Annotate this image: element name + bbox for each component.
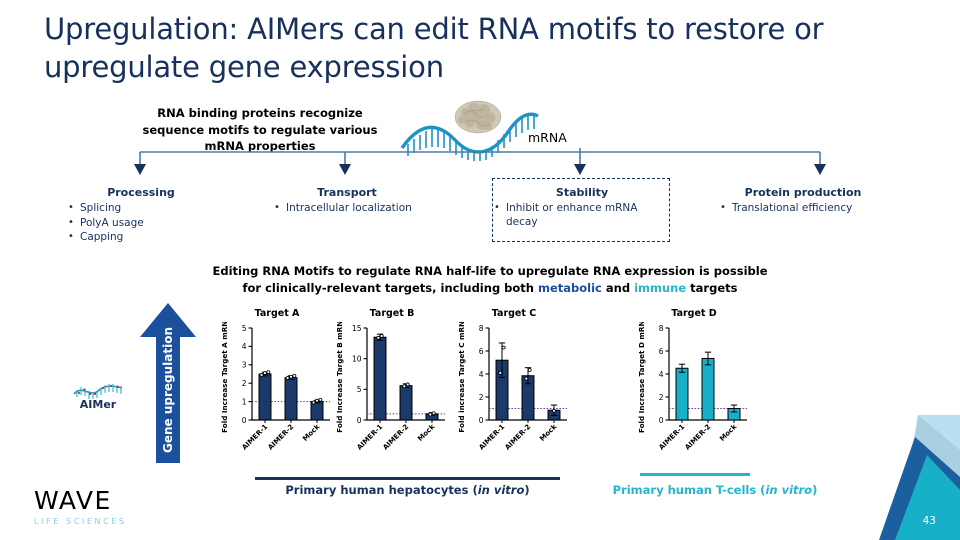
tcell-group-rule <box>640 473 750 476</box>
aimer-label: AIMer <box>72 398 124 411</box>
svg-text:2: 2 <box>242 379 247 388</box>
subtitle-metabolic: metabolic <box>538 281 602 295</box>
page-number: 43 <box>923 515 936 527</box>
svg-text:Mock: Mock <box>301 423 321 443</box>
chart-target-d: Target D 02468Fold Increase Target D mRN… <box>635 308 753 476</box>
branch-connector <box>130 148 830 184</box>
svg-text:AIMER-1: AIMER-1 <box>657 423 686 452</box>
logo-wordmark: WAVE <box>34 488 127 513</box>
caption-hepatocytes: Primary human hepatocytes (in vitro) <box>245 483 570 497</box>
svg-text:0: 0 <box>479 416 484 425</box>
category-title: Transport <box>272 186 422 199</box>
svg-text:10: 10 <box>352 354 362 363</box>
caption-text: Primary human T-cells ( <box>613 483 766 497</box>
chart-target-c: Target C 02468Fold increase Target C mRN… <box>455 308 573 476</box>
svg-text:0: 0 <box>659 416 664 425</box>
chart-target-a: Target A 012345Fold Increase Target A mR… <box>218 308 336 476</box>
wave-logo: WAVE LIFE SCIENCES <box>34 488 127 526</box>
caption-text-end: ) <box>812 483 817 497</box>
subtitle-immune: immune <box>634 281 686 295</box>
chart-title: Target A <box>218 308 336 319</box>
category-items: Intracellular localization <box>272 202 422 216</box>
caption-italic: in vitro <box>765 483 812 497</box>
section-subtitle: Editing RNA Motifs to regulate RNA half-… <box>170 263 810 298</box>
svg-text:AIMER-2: AIMER-2 <box>381 423 410 452</box>
mrna-label: mRNA <box>528 130 567 145</box>
subtitle-line2-post: targets <box>686 281 737 295</box>
chart-plot-area: 012345Fold Increase Target A mRNAAIMER-1… <box>218 322 336 476</box>
svg-text:5: 5 <box>242 324 247 333</box>
category-items: Inhibit or enhance mRNA decay <box>492 202 672 229</box>
svg-text:AIMER-2: AIMER-2 <box>683 423 712 452</box>
subtitle-line1: Editing RNA Motifs to regulate RNA half-… <box>212 264 767 278</box>
logo-tagline: LIFE SCIENCES <box>34 517 127 526</box>
svg-text:Mock: Mock <box>718 423 738 443</box>
category-items: Translational efficiency <box>718 202 888 216</box>
category-items: Splicing PolyA usage Capping <box>66 202 216 245</box>
chart-plot-area: 02468Fold increase Target C mRNAAIMER-1A… <box>455 322 573 476</box>
list-item: Translational efficiency <box>718 202 888 216</box>
svg-text:4: 4 <box>479 370 484 379</box>
arrow-label-wrap: Gene upregulation <box>140 303 196 463</box>
category-protein-production: Protein production Translational efficie… <box>718 186 888 217</box>
chart-plot-area: 051015Fold Increase Target B mRNAAIMER-1… <box>333 322 451 476</box>
slide: Upregulation: AIMers can edit RNA motifs… <box>0 0 960 540</box>
svg-text:Fold Increase Target D mRNA: Fold Increase Target D mRNA <box>637 322 646 433</box>
svg-text:AIMER-2: AIMER-2 <box>266 423 295 452</box>
caption-tcells: Primary human T-cells (in vitro) <box>575 483 855 497</box>
chart-title: Target B <box>333 308 451 319</box>
caption-text: Primary human hepatocytes ( <box>285 483 477 497</box>
svg-text:Mock: Mock <box>416 423 436 443</box>
category-stability: Stability Inhibit or enhance mRNA decay <box>492 186 672 230</box>
category-transport: Transport Intracellular localization <box>272 186 422 217</box>
caption-italic: in vitro <box>478 483 525 497</box>
list-item: Splicing <box>66 202 216 216</box>
svg-text:2: 2 <box>479 393 484 402</box>
svg-text:3: 3 <box>242 361 247 370</box>
svg-text:AIMER-2: AIMER-2 <box>503 423 532 452</box>
svg-text:4: 4 <box>242 342 247 351</box>
svg-text:8: 8 <box>659 324 664 333</box>
svg-text:5: 5 <box>357 385 362 394</box>
svg-text:Fold increase Target C mRNA: Fold increase Target C mRNA <box>457 322 466 433</box>
list-item: PolyA usage <box>66 217 216 231</box>
category-processing: Processing Splicing PolyA usage Capping <box>66 186 216 246</box>
category-title: Processing <box>66 186 216 199</box>
list-item: Intracellular localization <box>272 202 422 216</box>
svg-text:Fold Increase Target B mRNA: Fold Increase Target B mRNA <box>335 322 344 433</box>
svg-text:2: 2 <box>659 393 664 402</box>
svg-text:AIMER-1: AIMER-1 <box>240 423 269 452</box>
svg-text:6: 6 <box>659 347 664 356</box>
category-title: Protein production <box>718 186 888 199</box>
list-item: Capping <box>66 231 216 245</box>
subtitle-line2-pre: for clinically-relevant targets, includi… <box>243 281 538 295</box>
svg-text:Mock: Mock <box>538 423 558 443</box>
svg-text:Fold Increase Target A mRNA: Fold Increase Target A mRNA <box>220 322 229 433</box>
svg-text:AIMER-1: AIMER-1 <box>477 423 506 452</box>
svg-text:6: 6 <box>479 347 484 356</box>
caption-text-end: ) <box>524 483 529 497</box>
page-title: Upregulation: AIMers can edit RNA motifs… <box>44 10 934 87</box>
subtitle-line2-mid: and <box>602 281 634 295</box>
svg-text:8: 8 <box>479 324 484 333</box>
chart-plot-area: 02468Fold Increase Target D mRNAAIMER-1A… <box>635 322 753 476</box>
svg-text:AIMER-1: AIMER-1 <box>355 423 384 452</box>
list-item: Inhibit or enhance mRNA decay <box>492 202 672 229</box>
svg-text:0: 0 <box>357 416 362 425</box>
chart-target-b: Target B 051015Fold Increase Target B mR… <box>333 308 451 476</box>
chart-title: Target C <box>455 308 573 319</box>
hepatocyte-group-rule <box>255 477 560 480</box>
svg-text:1: 1 <box>242 397 247 406</box>
category-title: Stability <box>492 186 672 199</box>
chart-title: Target D <box>635 308 753 319</box>
svg-text:0: 0 <box>242 416 247 425</box>
corner-decoration <box>855 415 960 540</box>
svg-text:4: 4 <box>659 370 664 379</box>
svg-text:15: 15 <box>352 324 362 333</box>
arrow-label: Gene upregulation <box>161 327 175 453</box>
